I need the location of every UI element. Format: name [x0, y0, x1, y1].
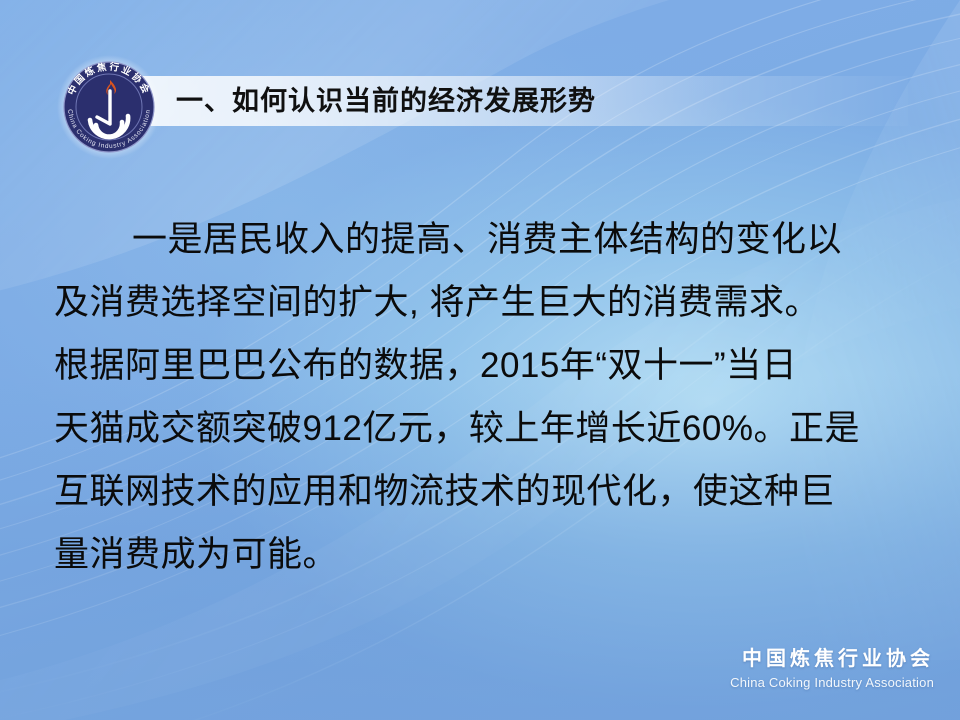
presentation-slide: 中国炼焦行业协会 China Coking Industry Associati… — [0, 0, 960, 720]
body-line: 根据阿里巴巴公布的数据，2015年“双十一”当日 — [54, 334, 904, 397]
body-line: 及消费选择空间的扩大, 将产生巨大的消费需求。 — [54, 271, 904, 334]
body-line: 一是居民收入的提高、消费主体结构的变化以 — [54, 208, 904, 271]
footer-name-cn: 中国炼焦行业协会 — [730, 646, 934, 673]
body-line: 天猫成交额突破912亿元，较上年增长近60%。正是 — [54, 397, 904, 460]
footer-name-en: China Coking Industry Association — [730, 673, 934, 693]
body-line: 量消费成为可能。 — [54, 523, 904, 586]
footer-wordmark: 中国炼焦行业协会 China Coking Industry Associati… — [730, 646, 934, 693]
association-logo-icon: 中国炼焦行业协会 China Coking Industry Associati… — [56, 54, 162, 160]
body-line: 互联网技术的应用和物流技术的现代化，使这种巨 — [54, 460, 904, 523]
slide-title: 一、如何认识当前的经济发展形势 — [176, 78, 596, 124]
slide-body: 一是居民收入的提高、消费主体结构的变化以 及消费选择空间的扩大, 将产生巨大的消… — [54, 208, 904, 586]
